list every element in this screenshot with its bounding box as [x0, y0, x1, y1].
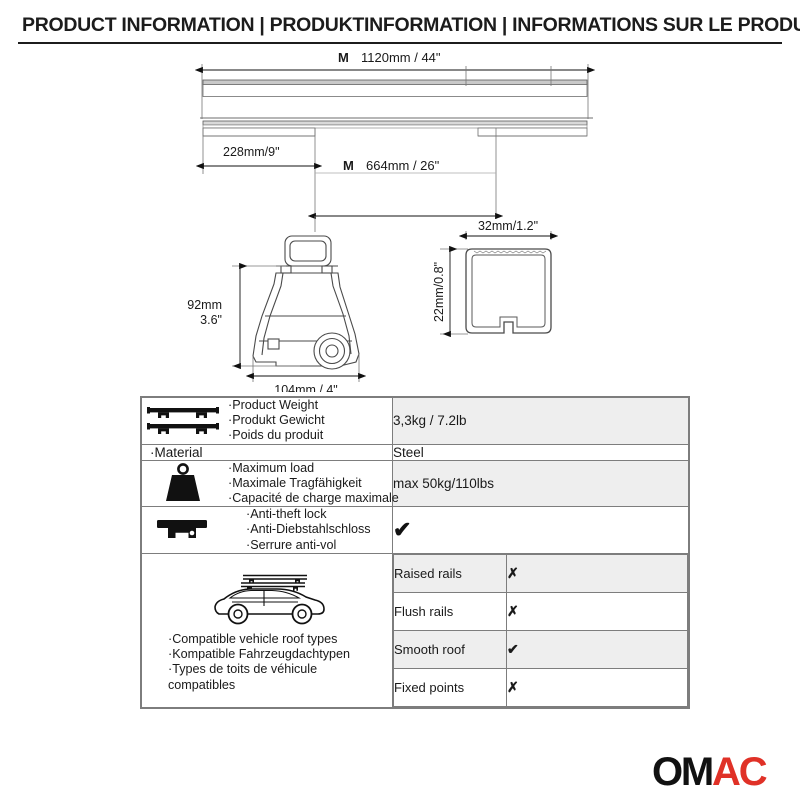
label-cell-maximum-load: ·Maximum load ·Maximale Tragfähigkeit ·C… — [142, 460, 393, 507]
value-cell-maximum-load: max 50kg/110lbs — [393, 460, 689, 507]
logo-text-dark: OM — [652, 750, 712, 794]
foot-height-label: 92mm — [187, 298, 222, 312]
label-text-maximum-load: ·Maximum load ·Maximale Tragfähigkeit ·C… — [228, 461, 399, 507]
table-row-anti-theft-lock: ·Anti-theft lock ·Anti-Diebstahlschloss … — [142, 507, 689, 554]
label-line-de: ·Maximale Tragfähigkeit — [228, 476, 399, 491]
end-offset-dimension — [203, 128, 315, 219]
label-line-fr: ·Types de toits de véhicule — [168, 662, 392, 677]
double-crossbar-icon — [142, 404, 224, 438]
profile-cross-section — [440, 66, 551, 334]
label-line-fr: ·Capacité de charge maximale — [228, 491, 399, 506]
roof-type-row-smooth-roof: Smooth roof ✔ — [394, 630, 688, 668]
technical-drawing: M 1120mm / 44" 228mm/9" M 664mm / 26" 92… — [0, 44, 800, 392]
table-row-maximum-load: ·Maximum load ·Maximale Tragfähigkeit ·C… — [142, 460, 689, 507]
foot-width-label: 104mm / 4" — [274, 383, 338, 392]
label-line-de: ·Anti-Diebstahlschloss — [246, 522, 392, 537]
omac-logo: OMAC — [652, 752, 765, 792]
value-cell-anti-theft-lock: ✔ — [393, 507, 689, 554]
roof-type-mark-cross-icon: ✗ — [507, 592, 688, 630]
car-with-rack-icon — [142, 568, 392, 630]
spread-label: 664mm / 26" — [366, 158, 440, 173]
roof-type-name: Smooth roof — [394, 630, 507, 668]
label-line-fr: ·Poids du produit — [228, 428, 392, 443]
label-line-en: ·Maximum load — [228, 461, 399, 476]
end-offset-label: 228mm/9" — [223, 145, 280, 159]
crossbar-top-view — [200, 118, 593, 136]
overall-length-label: 1120mm / 44" — [361, 50, 441, 65]
table-row-material: ·Material Steel — [142, 444, 689, 460]
roof-type-mark-cross-icon: ✗ — [507, 554, 688, 592]
table-row-product-weight: ·Product Weight ·Produkt Gewicht ·Poids … — [142, 398, 689, 445]
overall-length-marker: M — [338, 50, 349, 65]
roof-type-name: Raised rails — [394, 554, 507, 592]
roof-type-row-raised-rails: Raised rails ✗ — [394, 554, 688, 592]
roof-types-table: Raised rails ✗ Flush rails ✗ Smooth roof… — [393, 554, 688, 707]
roof-type-row-flush-rails: Flush rails ✗ — [394, 592, 688, 630]
label-line-en: ·Anti-theft lock — [246, 507, 392, 522]
roof-type-name: Fixed points — [394, 668, 507, 706]
spread-marker: M — [343, 158, 354, 173]
label-cell-material: ·Material — [142, 444, 393, 460]
foot-front-view — [253, 236, 359, 369]
roof-type-row-fixed-points: Fixed points ✗ — [394, 668, 688, 706]
value-cell-material: Steel — [393, 444, 689, 460]
value-cell-product-weight: 3,3kg / 7.2lb — [393, 398, 689, 445]
spread-dimension — [315, 128, 496, 232]
check-icon: ✔ — [393, 517, 411, 542]
label-text-product-weight: ·Product Weight ·Produkt Gewicht ·Poids … — [228, 398, 392, 444]
label-line-de: ·Produkt Gewicht — [228, 413, 392, 428]
label-cell-roof-types: ·Compatible vehicle roof types ·Kompatib… — [142, 553, 393, 707]
specification-table: ·Product Weight ·Produkt Gewicht ·Poids … — [140, 396, 690, 709]
table-row-roof-types: ·Compatible vehicle roof types ·Kompatib… — [142, 553, 689, 707]
lock-icon — [142, 515, 224, 545]
foot-height-inch-label: 3.6" — [200, 313, 222, 327]
label-line-en: ·Compatible vehicle roof types — [168, 632, 392, 647]
label-line-en: ·Product Weight — [228, 398, 392, 413]
label-text-roof-types: ·Compatible vehicle roof types ·Kompatib… — [142, 632, 392, 694]
label-text-anti-theft-lock: ·Anti-theft lock ·Anti-Diebstahlschloss … — [228, 507, 392, 553]
crossbar-side-view — [203, 80, 587, 97]
weight-icon — [142, 462, 224, 504]
label-line-de: ·Kompatible Fahrzeugdachtypen — [168, 647, 392, 662]
page-title: PRODUCT INFORMATION | PRODUKTINFORMATION… — [22, 14, 782, 37]
profile-height-label: 22mm/0.8" — [432, 262, 446, 322]
roof-type-name: Flush rails — [394, 592, 507, 630]
label-line-fr: ·Serrure anti-vol — [246, 538, 392, 553]
label-cell-product-weight: ·Product Weight ·Produkt Gewicht ·Poids … — [142, 398, 393, 445]
roof-types-subtable-cell: Raised rails ✗ Flush rails ✗ Smooth roof… — [393, 553, 689, 707]
roof-type-mark-cross-icon: ✗ — [507, 668, 688, 706]
roof-type-mark-check-icon: ✔ — [507, 630, 688, 668]
label-cell-anti-theft-lock: ·Anti-theft lock ·Anti-Diebstahlschloss … — [142, 507, 393, 554]
logo-text-red: AC — [712, 750, 765, 794]
label-line-fr-cont: compatibles — [168, 678, 392, 693]
profile-width-label: 32mm/1.2" — [478, 219, 538, 233]
label-text-material: ·Material — [142, 445, 392, 460]
